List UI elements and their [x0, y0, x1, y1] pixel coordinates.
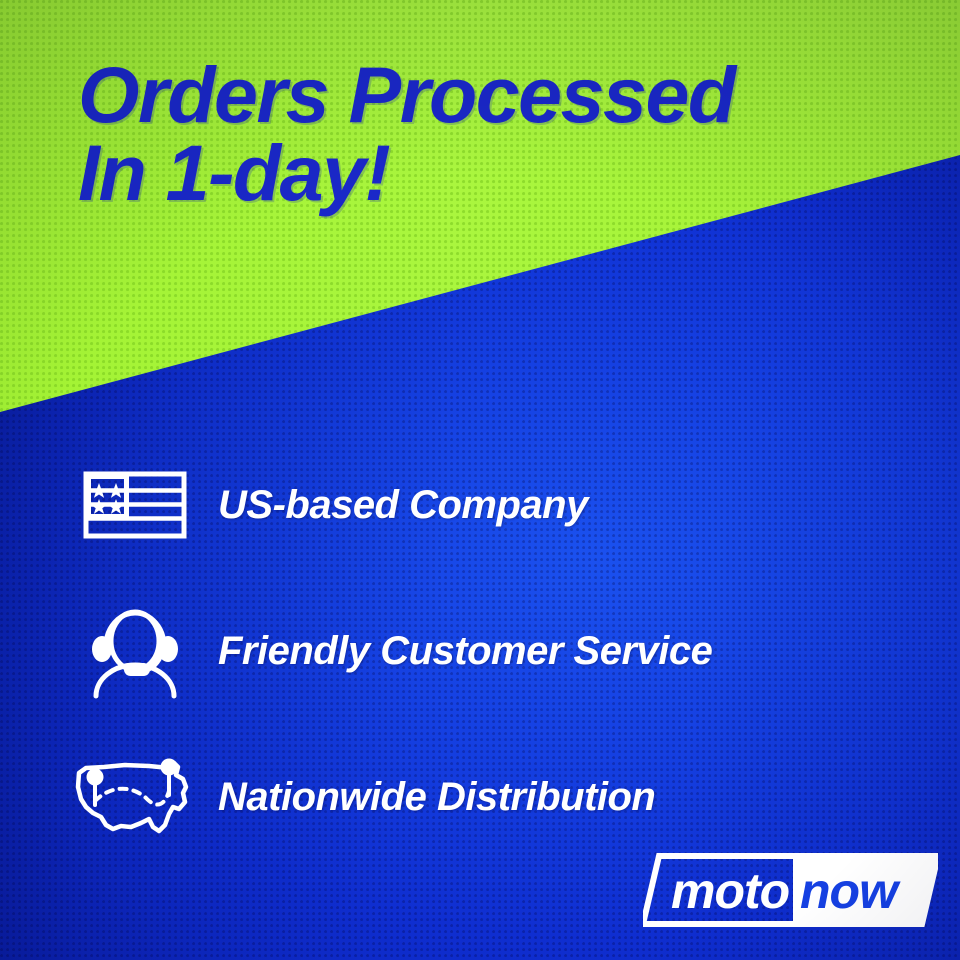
promo-graphic: Orders Processed In 1-day!: [0, 0, 960, 960]
logo-text-now: now: [800, 863, 901, 919]
logo-text-moto: moto: [671, 863, 789, 919]
us-map-distribution-icon: [70, 747, 200, 847]
feature-row-customer-service: Friendly Customer Service: [0, 578, 960, 724]
feature-row-nationwide: Nationwide Distribution: [0, 724, 960, 870]
feature-list: US-based Company: [0, 432, 960, 870]
headset-support-icon: [70, 601, 200, 701]
page-title: Orders Processed In 1-day!: [78, 56, 918, 212]
feature-label: Friendly Customer Service: [218, 629, 712, 674]
motonow-logo[interactable]: moto now: [643, 852, 938, 928]
feature-row-us-based: US-based Company: [0, 432, 960, 578]
us-flag-icon: [70, 455, 200, 555]
feature-label: Nationwide Distribution: [218, 775, 655, 820]
feature-label: US-based Company: [218, 483, 588, 528]
